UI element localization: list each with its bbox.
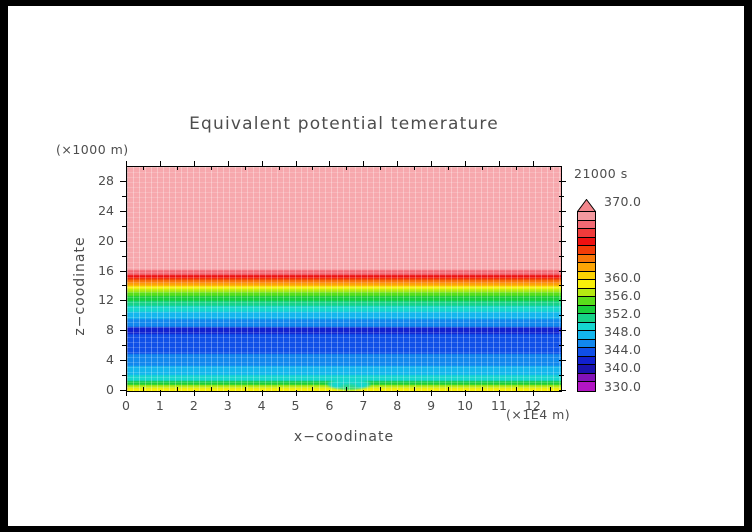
y-tick-major bbox=[120, 360, 127, 361]
x-tick-major bbox=[431, 390, 432, 396]
x-tick-top bbox=[262, 161, 263, 167]
y-tick-major bbox=[120, 241, 127, 242]
contour-plot-area bbox=[126, 166, 562, 392]
x-tick-top bbox=[194, 161, 195, 167]
colorbar-segment bbox=[578, 272, 595, 281]
y-tick-major bbox=[120, 330, 127, 331]
colorbar-segment bbox=[578, 357, 595, 366]
y-tick-minor bbox=[122, 375, 127, 376]
colorbar-tick-label: 360.0 bbox=[604, 270, 641, 285]
contour-band bbox=[127, 319, 561, 326]
contour-band bbox=[127, 280, 561, 283]
x-tick-top bbox=[431, 161, 432, 167]
y-tick-minor-right bbox=[559, 256, 564, 257]
contour-band bbox=[127, 270, 561, 274]
x-tick-minor bbox=[414, 387, 415, 391]
color-bands bbox=[127, 167, 561, 391]
contour-band bbox=[127, 327, 561, 334]
x-tick-minor-top bbox=[550, 166, 551, 170]
colorbar-segment bbox=[578, 229, 595, 238]
colorbar-segment bbox=[578, 314, 595, 323]
x-tick-top bbox=[126, 161, 127, 167]
contour-band bbox=[127, 292, 561, 296]
contour-band bbox=[127, 275, 561, 279]
colorbar-tick-label: 370.0 bbox=[604, 194, 641, 209]
y-tick-minor bbox=[122, 226, 127, 227]
x-tick-minor-top bbox=[279, 166, 280, 170]
x-tick-minor bbox=[143, 387, 144, 391]
colorbar-segment bbox=[578, 331, 595, 340]
y-tick-right bbox=[559, 300, 566, 301]
y-tick-minor-right bbox=[559, 196, 564, 197]
y-tick-right bbox=[559, 241, 566, 242]
y-tick-label: 0 bbox=[80, 382, 114, 397]
y-tick-label: 28 bbox=[80, 173, 114, 188]
y-tick-minor-right bbox=[559, 285, 564, 286]
colorbar-segment bbox=[578, 306, 595, 315]
x-tick-minor-top bbox=[143, 166, 144, 170]
colorbar-tick-label: 340.0 bbox=[604, 360, 641, 375]
x-tick-label: 8 bbox=[382, 398, 412, 413]
y-tick-minor-right bbox=[559, 315, 564, 316]
x-tick-major bbox=[465, 390, 466, 396]
x-tick-major bbox=[262, 390, 263, 396]
x-tick-minor-top bbox=[516, 166, 517, 170]
y-tick-minor bbox=[122, 345, 127, 346]
y-tick-major bbox=[120, 181, 127, 182]
x-tick-label: 6 bbox=[314, 398, 344, 413]
colorbar-segment bbox=[578, 374, 595, 383]
y-tick-right bbox=[559, 360, 566, 361]
x-tick-label: 1 bbox=[145, 398, 175, 413]
x-tick-minor bbox=[516, 387, 517, 391]
colorbar-segment bbox=[578, 382, 595, 391]
x-tick-minor-top bbox=[380, 166, 381, 170]
colorbar-tick-label: 344.0 bbox=[604, 342, 641, 357]
contour-band bbox=[127, 354, 561, 366]
x-tick-minor bbox=[245, 387, 246, 391]
x-tick-top bbox=[363, 161, 364, 167]
x-tick-major bbox=[296, 390, 297, 396]
x-tick-major bbox=[533, 390, 534, 396]
y-axis-label: z−coodinate bbox=[72, 206, 88, 366]
x-tick-label: 7 bbox=[348, 398, 378, 413]
colorbar-segment bbox=[578, 212, 595, 221]
x-tick-minor-top bbox=[312, 166, 313, 170]
contour-band bbox=[127, 306, 561, 312]
x-tick-major bbox=[499, 390, 500, 396]
x-tick-minor bbox=[482, 387, 483, 391]
colorbar-tick-label: 330.0 bbox=[604, 379, 641, 394]
x-tick-minor-top bbox=[177, 166, 178, 170]
colorbar-segment bbox=[578, 348, 595, 357]
x-tick-major bbox=[160, 390, 161, 396]
x-tick-label: 0 bbox=[111, 398, 141, 413]
y-tick-major bbox=[120, 271, 127, 272]
y-tick-right bbox=[559, 271, 566, 272]
y-tick-major bbox=[120, 390, 127, 391]
colorbar-segment bbox=[578, 221, 595, 230]
figure-canvas: Equivalent potential temerature (×1000 m… bbox=[8, 6, 744, 526]
x-tick-minor-top bbox=[448, 166, 449, 170]
y-tick-right bbox=[559, 390, 566, 391]
x-tick-major bbox=[329, 390, 330, 396]
contour-band bbox=[127, 278, 561, 280]
x-tick-minor bbox=[312, 387, 313, 391]
contour-band bbox=[127, 366, 561, 375]
x-tick-minor bbox=[346, 387, 347, 391]
x-tick-minor-top bbox=[414, 166, 415, 170]
x-tick-major bbox=[228, 390, 229, 396]
colorbar-segment bbox=[578, 323, 595, 332]
colorbar bbox=[577, 211, 596, 392]
x-tick-minor bbox=[177, 387, 178, 391]
contour-band bbox=[127, 286, 561, 289]
colorbar-tick-label: 356.0 bbox=[604, 288, 641, 303]
y-tick-minor bbox=[122, 196, 127, 197]
y-tick-major bbox=[120, 211, 127, 212]
contour-band bbox=[127, 301, 561, 305]
x-tick-major bbox=[194, 390, 195, 396]
y-axis-unit: (×1000 m) bbox=[56, 142, 129, 157]
x-tick-label: 3 bbox=[213, 398, 243, 413]
x-tick-major bbox=[397, 390, 398, 396]
y-tick-right bbox=[559, 330, 566, 331]
colorbar-tick-label: 348.0 bbox=[604, 324, 641, 339]
colorbar-segment bbox=[578, 340, 595, 349]
colorbar-segment bbox=[578, 365, 595, 374]
y-tick-right bbox=[559, 211, 566, 212]
contour-band bbox=[127, 296, 561, 301]
x-tick-minor bbox=[211, 387, 212, 391]
x-tick-top bbox=[329, 161, 330, 167]
x-tick-label: 9 bbox=[416, 398, 446, 413]
x-tick-top bbox=[465, 161, 466, 167]
x-tick-top bbox=[533, 161, 534, 167]
x-axis-label: x−coodinate bbox=[126, 429, 562, 445]
colorbar-segment bbox=[578, 255, 595, 264]
x-tick-minor bbox=[448, 387, 449, 391]
x-tick-minor-top bbox=[346, 166, 347, 170]
colorbar-tick-label: 352.0 bbox=[604, 306, 641, 321]
x-tick-minor-top bbox=[482, 166, 483, 170]
x-axis-unit: (×1E4 m) bbox=[506, 407, 570, 422]
y-tick-minor-right bbox=[559, 375, 564, 376]
y-tick-minor bbox=[122, 285, 127, 286]
colorbar-segment bbox=[578, 289, 595, 298]
x-tick-top bbox=[499, 161, 500, 167]
y-tick-minor bbox=[122, 256, 127, 257]
colorbar-segment bbox=[578, 297, 595, 306]
contour-band bbox=[127, 283, 561, 286]
x-tick-major bbox=[363, 390, 364, 396]
timestamp-label: 21000 s bbox=[574, 166, 628, 181]
x-tick-top bbox=[296, 161, 297, 167]
x-tick-label: 2 bbox=[179, 398, 209, 413]
y-tick-minor-right bbox=[559, 345, 564, 346]
chart-title: Equivalent potential temerature bbox=[126, 114, 562, 134]
colorbar-segment bbox=[578, 238, 595, 247]
colorbar-segment bbox=[578, 263, 595, 272]
y-tick-minor-right bbox=[559, 226, 564, 227]
x-tick-label: 4 bbox=[247, 398, 277, 413]
contour-band bbox=[127, 334, 561, 353]
y-tick-right bbox=[559, 181, 566, 182]
x-tick-minor bbox=[550, 387, 551, 391]
x-tick-top bbox=[228, 161, 229, 167]
x-tick-top bbox=[397, 161, 398, 167]
y-tick-major bbox=[120, 300, 127, 301]
x-tick-minor-top bbox=[211, 166, 212, 170]
x-tick-minor bbox=[279, 387, 280, 391]
x-tick-label: 10 bbox=[450, 398, 480, 413]
bubble-core bbox=[339, 384, 359, 391]
colorbar-segment bbox=[578, 246, 595, 255]
y-tick-minor bbox=[122, 315, 127, 316]
colorbar-segment bbox=[578, 280, 595, 289]
contour-band bbox=[127, 312, 561, 319]
contour-band bbox=[127, 289, 561, 292]
x-tick-top bbox=[160, 161, 161, 167]
x-tick-label: 5 bbox=[281, 398, 311, 413]
x-tick-minor bbox=[380, 387, 381, 391]
x-tick-minor-top bbox=[245, 166, 246, 170]
contour-band bbox=[127, 167, 561, 270]
